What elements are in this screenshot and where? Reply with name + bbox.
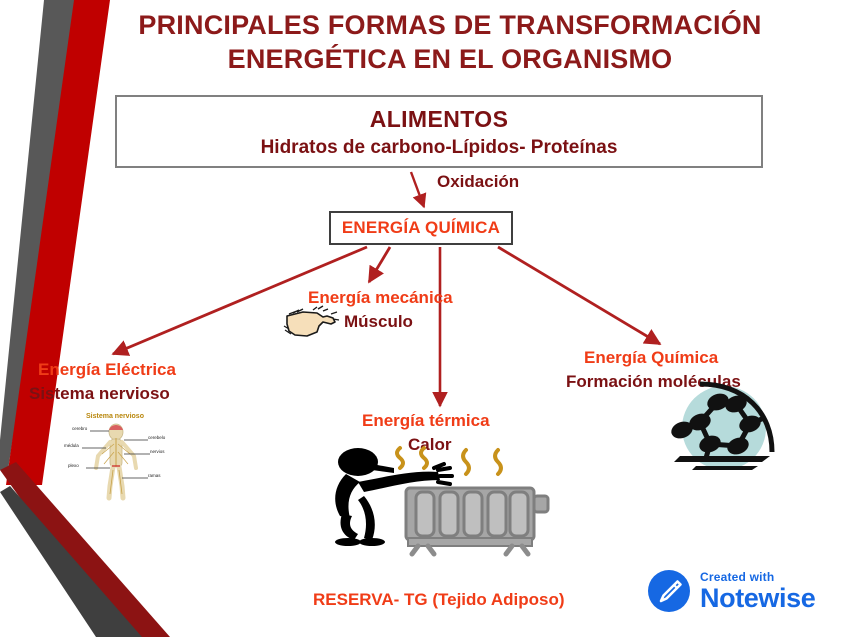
molecule-structure-icon (666, 378, 788, 478)
alimentos-box: ALIMENTOS Hidratos de carbono-Lípidos- P… (115, 95, 763, 168)
notewise-pencil-icon (647, 569, 691, 613)
stick-figure-radiator-icon (320, 440, 568, 560)
svg-text:Sistema nervioso: Sistema nervioso (86, 413, 144, 420)
arrow-to-mecanica (369, 247, 390, 282)
arrow-oxidacion (411, 172, 424, 207)
title-line-2: ENERGÉTICA EN EL ORGANISMO (100, 42, 800, 76)
energia-quimica-label: ENERGÍA QUÍMICA (342, 218, 500, 237)
page-title: PRINCIPALES FORMAS DE TRANSFORMACIÓN ENE… (100, 8, 800, 76)
energia-quimica-box: ENERGÍA QUÍMICA (329, 211, 513, 245)
notewise-brand: Notewise (700, 585, 815, 612)
branch-quimica-title: Energía Química (584, 348, 718, 368)
flexed-arm-muscle-icon (283, 304, 341, 338)
slide-canvas: PRINCIPALES FORMAS DE TRANSFORMACIÓN ENE… (0, 0, 848, 637)
oxidacion-label: Oxidación (437, 172, 519, 192)
notewise-created-with: Created with (700, 571, 815, 583)
branch-electrica-title: Energía Eléctrica (38, 360, 176, 380)
title-line-1: PRINCIPALES FORMAS DE TRANSFORMACIÓN (100, 8, 800, 42)
reserva-label: RESERVA- TG (Tejido Adiposo) (313, 590, 565, 610)
alimentos-subheading: Hidratos de carbono-Lípidos- Proteínas (117, 137, 761, 159)
notewise-wordmark: Created with Notewise (700, 571, 815, 612)
svg-text:cerebro: cerebro (72, 426, 88, 431)
arrow-to-quimica (498, 247, 660, 344)
branch-mecanica-subtitle: Músculo (344, 312, 413, 332)
svg-text:cerebelo: cerebelo (148, 435, 166, 440)
gray-stripe-lower (0, 486, 142, 637)
svg-text:ramas: ramas (148, 473, 161, 478)
notewise-badge[interactable]: Created with Notewise (647, 563, 832, 619)
svg-text:médula: médula (64, 443, 79, 448)
svg-text:plexo: plexo (68, 463, 79, 468)
branch-electrica-subtitle: Sistema nervioso (29, 384, 170, 404)
svg-text:nervios: nervios (150, 449, 165, 454)
alimentos-heading: ALIMENTOS (117, 106, 761, 133)
branch-termica-title: Energía térmica (362, 411, 490, 431)
nervous-system-diagram-icon: Sistema nervioso cerebro cerebelo médula… (56, 408, 176, 502)
